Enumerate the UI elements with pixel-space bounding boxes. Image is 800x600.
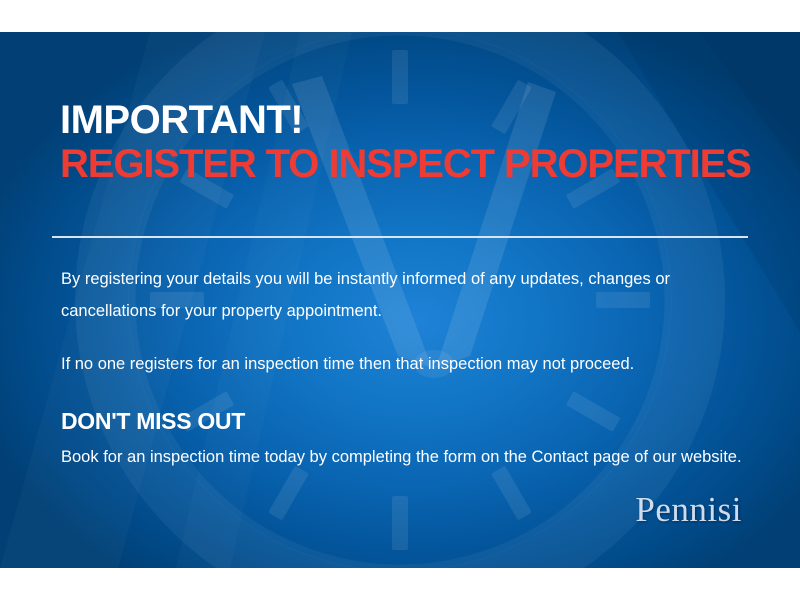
divider xyxy=(52,236,748,238)
paragraph-registering-details: By registering your details you will be … xyxy=(61,264,761,327)
headline-block: IMPORTANT! REGISTER TO INSPECT PROPERTIE… xyxy=(60,100,760,184)
poster-content: IMPORTANT! REGISTER TO INSPECT PROPERTIE… xyxy=(0,32,800,568)
paragraph-booking-instructions: Book for an inspection time today by com… xyxy=(61,442,761,474)
headline-primary: IMPORTANT! xyxy=(60,100,760,140)
body-block: By registering your details you will be … xyxy=(61,264,761,474)
poster-frame: IMPORTANT! REGISTER TO INSPECT PROPERTIE… xyxy=(0,0,800,600)
brand-logo: Pennisi xyxy=(635,490,742,530)
announcement-banner: IMPORTANT! REGISTER TO INSPECT PROPERTIE… xyxy=(0,32,800,568)
headline-secondary: REGISTER TO INSPECT PROPERTIES xyxy=(60,144,760,184)
paragraph-inspection-notice: If no one registers for an inspection ti… xyxy=(61,349,761,381)
subheading-dont-miss-out: DON'T MISS OUT xyxy=(61,409,761,434)
